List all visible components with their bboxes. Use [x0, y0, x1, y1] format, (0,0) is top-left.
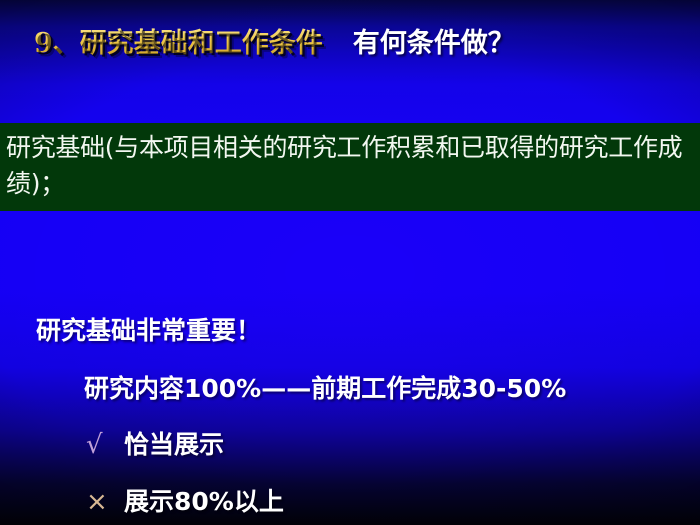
green-band-text: 研究基础(与本项目相关的研究工作积累和已取得的研究工作成绩)； — [6, 130, 696, 202]
slide-body: 研究基础非常重要！ 研究内容100%——前期工作完成30-50% √ 恰当展示 … — [0, 299, 700, 525]
list-item: √ 恰当展示 — [86, 425, 224, 461]
slide-title: 9、研究基础和工作条件 有何条件做？ — [0, 14, 700, 66]
presentation-slide: 9、研究基础和工作条件 有何条件做？ 研究基础(与本项目相关的研究工作积累和已取… — [0, 0, 700, 525]
cross-mark-icon: × — [86, 487, 116, 517]
check-mark-icon: √ — [86, 430, 116, 460]
body-subheading: 研究内容100%——前期工作完成30-50% — [84, 369, 566, 405]
list-item-label: 展示80%以上 — [124, 482, 284, 518]
body-heading: 研究基础非常重要！ — [36, 311, 261, 347]
title-question-text: 有何条件做？ — [353, 21, 515, 60]
list-item: × 展示80%以上 — [86, 482, 284, 518]
list-item-label: 恰当展示 — [124, 425, 224, 461]
title-heading-text: 9、研究基础和工作条件 — [34, 21, 323, 60]
green-callout-band: 研究基础(与本项目相关的研究工作积累和已取得的研究工作成绩)； — [0, 123, 700, 211]
